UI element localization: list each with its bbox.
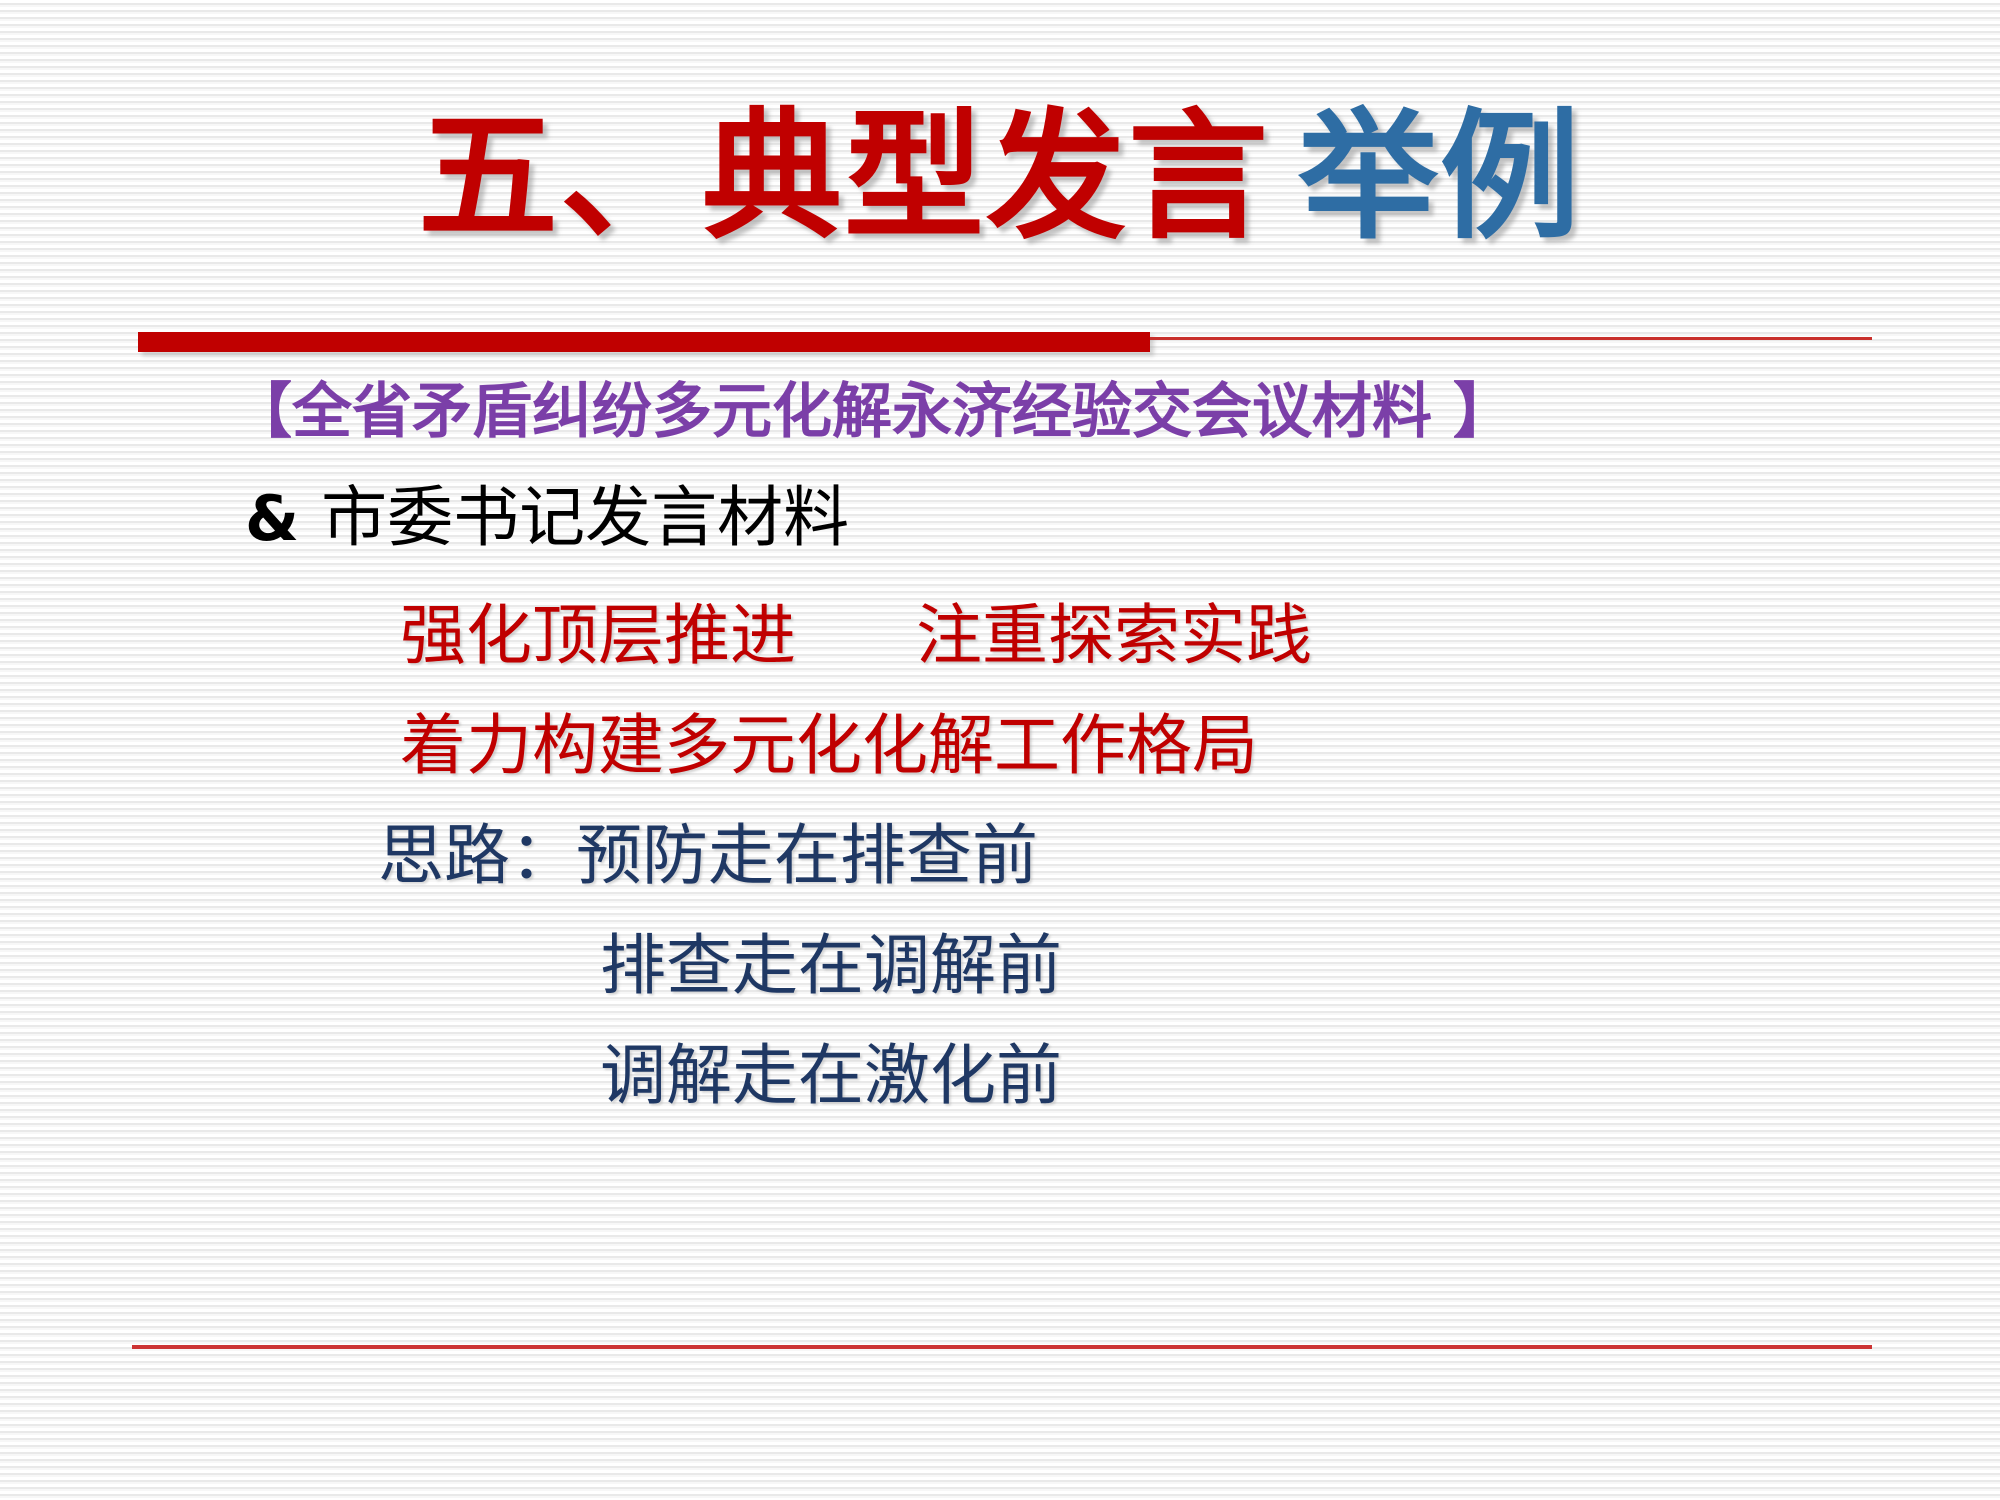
highlight-line-1: 强化顶层推进注重探索实践 [400, 603, 1312, 669]
highlight-line-2: 着力构建多元化化解工作格局 [400, 713, 1258, 779]
ampersand-bullet-icon: & [245, 482, 299, 555]
highlight-line-1-right: 注重探索实践 [916, 597, 1312, 674]
approach-line-3: 调解走在激化前 [600, 1043, 1062, 1109]
speaker-material-label: 市委书记发言材料 [321, 479, 849, 556]
slide-canvas: 五、典型发言举例 【全省矛盾纠纷多元化解永济经验交会议材料 】 &市委书记发言材… [0, 0, 2000, 1500]
title-underline-thick [138, 332, 1150, 352]
approach-line-2: 排查走在调解前 [600, 933, 1062, 999]
title-main-text: 五、典型发言 [418, 108, 1270, 248]
highlight-line-1-left: 强化顶层推进 [400, 597, 796, 674]
footer-rule [132, 1345, 1872, 1349]
title-sub-text: 举例 [1298, 108, 1582, 248]
speaker-material-line: &市委书记发言材料 [245, 485, 849, 551]
approach-line-1: 思路：预防走在排查前 [378, 823, 1038, 889]
subtitle-bracket-text: 【全省矛盾纠纷多元化解永济经验交会议材料 】 [232, 382, 1513, 442]
slide-title: 五、典型发言举例 [0, 108, 2000, 248]
title-underline-thin [1150, 337, 1872, 340]
